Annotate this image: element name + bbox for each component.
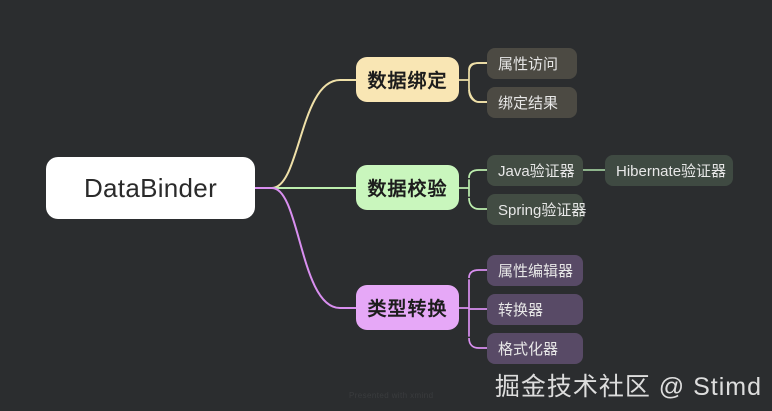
link-bracket-data-binding [459, 63, 487, 102]
node-leaf-hibernate-validator[interactable]: Hibernate验证器 [605, 155, 733, 186]
link-data-binding-to-bind-result [469, 90, 487, 102]
node-leaf-java-validator[interactable]: Java验证器 [487, 155, 583, 186]
node-leaf-property-editor[interactable]: 属性编辑器 [487, 255, 583, 286]
link-root-to-type-conversion [255, 188, 356, 308]
node-leaf-java-validator-label: Java验证器 [498, 160, 575, 181]
brand-watermark: 掘金技术社区 @ Stimd [495, 367, 762, 403]
link-type-conversion-to-formatter [469, 338, 487, 348]
link-data-validation-to-java [469, 170, 487, 178]
node-branch-type-conversion[interactable]: 类型转换 [356, 285, 459, 330]
node-leaf-spring-validator-label: Spring验证器 [498, 199, 586, 220]
link-data-binding-to-prop-access [469, 63, 487, 70]
node-leaf-hibernate-validator-label: Hibernate验证器 [616, 160, 726, 181]
node-leaf-binding-result[interactable]: 绑定结果 [487, 87, 577, 118]
node-leaf-formatter[interactable]: 格式化器 [487, 333, 583, 364]
xmind-watermark: Presented with xmind [349, 391, 433, 400]
node-root-databinder[interactable]: DataBinder [46, 157, 255, 219]
link-bracket-type-conversion [459, 280, 469, 336]
node-leaf-formatter-label: 格式化器 [498, 338, 558, 359]
node-branch-data-validation[interactable]: 数据校验 [356, 165, 459, 210]
node-leaf-property-access-label: 属性访问 [498, 53, 558, 74]
node-leaf-converter[interactable]: 转换器 [487, 294, 583, 325]
node-leaf-converter-label: 转换器 [498, 299, 543, 320]
link-data-validation-to-spring [469, 198, 487, 209]
node-branch-data-validation-label: 数据校验 [367, 174, 447, 201]
node-root-label: DataBinder [84, 173, 217, 204]
node-leaf-property-editor-label: 属性编辑器 [498, 260, 573, 281]
node-leaf-binding-result-label: 绑定结果 [498, 92, 558, 113]
link-root-to-data-binding [255, 80, 356, 188]
node-branch-type-conversion-label: 类型转换 [367, 294, 447, 321]
mindmap-canvas: DataBinder 数据绑定 数据校验 类型转换 属性访问 绑定结果 Java… [0, 0, 772, 411]
node-leaf-spring-validator[interactable]: Spring验证器 [487, 194, 583, 225]
node-branch-data-binding[interactable]: 数据绑定 [356, 57, 459, 102]
link-type-conversion-to-prop-editor [469, 270, 487, 278]
link-bracket-data-validation [459, 180, 469, 196]
node-branch-data-binding-label: 数据绑定 [367, 66, 447, 93]
node-leaf-property-access[interactable]: 属性访问 [487, 48, 577, 79]
